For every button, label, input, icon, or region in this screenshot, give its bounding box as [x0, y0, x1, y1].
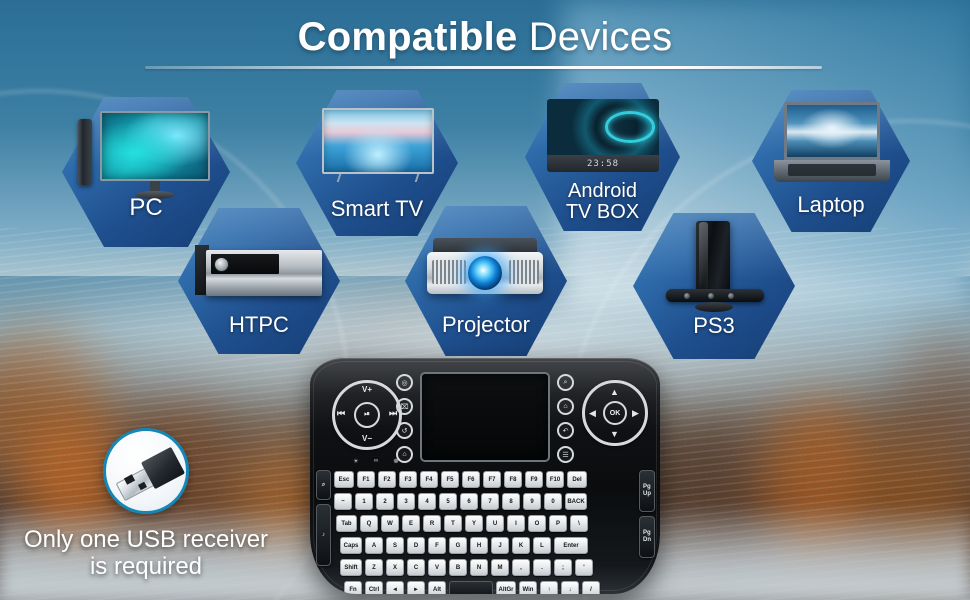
key-f10[interactable]: F10 — [546, 471, 564, 488]
left-round-icon-2: ⌧ — [400, 403, 408, 411]
key-g[interactable]: G — [449, 537, 467, 554]
key-5[interactable]: 5 — [439, 493, 457, 510]
key-f3[interactable]: F3 — [399, 471, 417, 488]
key--[interactable]: ' — [575, 559, 593, 576]
play-pause-icon: ⏯ — [364, 411, 370, 419]
key-d[interactable]: D — [407, 537, 425, 554]
backlight-icon-3: ❁ — [390, 458, 402, 465]
android-box-display: 23:58 — [547, 155, 659, 172]
ok-button[interactable]: OK — [603, 401, 627, 425]
key-1[interactable]: 1 — [355, 493, 373, 510]
device-label-ps3: PS3 — [633, 314, 795, 337]
search-button[interactable]: ⌕ — [557, 374, 574, 391]
key-h[interactable]: H — [470, 537, 488, 554]
side-key-left-top-icon: ⌕ — [322, 482, 325, 489]
backlight-icon-1: ☀ — [350, 458, 362, 465]
title-underline — [145, 66, 822, 69]
ps3-sensor-bar — [666, 289, 764, 302]
key--[interactable]: . — [533, 559, 551, 576]
ok-label: OK — [610, 410, 621, 417]
tv-foot — [337, 174, 342, 182]
ps3-stand — [695, 302, 733, 312]
projector-vent — [509, 260, 539, 284]
key-f8[interactable]: F8 — [504, 471, 522, 488]
usb-receiver-badge — [103, 428, 189, 514]
key-del[interactable]: Del — [567, 471, 587, 488]
key-w[interactable]: W — [381, 515, 399, 532]
htpc-dial — [214, 257, 229, 272]
key-q[interactable]: Q — [360, 515, 378, 532]
key-row-shift[interactable]: ShiftZXCVBNM,.;' — [340, 559, 593, 576]
key--[interactable]: ; — [554, 559, 572, 576]
laptop-keys — [788, 164, 876, 176]
key-altgr[interactable]: AltGr — [496, 581, 516, 594]
key-p[interactable]: P — [549, 515, 567, 532]
backlight-icon-2: ∞ — [370, 458, 382, 464]
key-f9[interactable]: F9 — [525, 471, 543, 488]
key-k[interactable]: K — [512, 537, 530, 554]
side-key-page-down[interactable]: Pg Dn — [639, 516, 655, 558]
key-x[interactable]: X — [386, 559, 404, 576]
key-f6[interactable]: F6 — [462, 471, 480, 488]
menu-icon: ☰ — [562, 451, 568, 459]
key-9[interactable]: 9 — [523, 493, 541, 510]
dpad-down-icon[interactable]: ▼ — [610, 430, 619, 439]
android-box-icon — [547, 99, 659, 155]
side-key-left-bottom-icon: ♪ — [322, 532, 325, 538]
key-back[interactable]: BACK — [565, 493, 587, 510]
key-shift[interactable]: Shift — [340, 559, 362, 576]
dpad-up-icon[interactable]: ▲ — [610, 388, 619, 397]
touchpad[interactable] — [420, 372, 550, 462]
device-label-htpc: HTPC — [178, 313, 340, 336]
ps3-console-icon — [696, 221, 730, 293]
key--[interactable]: ~ — [334, 493, 352, 510]
key-7[interactable]: 7 — [481, 493, 499, 510]
key--[interactable]: ◄ — [386, 581, 404, 594]
key-4[interactable]: 4 — [418, 493, 436, 510]
key-y[interactable]: Y — [465, 515, 483, 532]
prev-track-icon[interactable]: ⏮ — [332, 408, 350, 419]
key-i[interactable]: I — [507, 515, 525, 532]
smart-tv-icon — [322, 108, 434, 174]
usb-note-text: Only one USB receiver is required — [6, 527, 286, 581]
page-up-label: Pg Up — [643, 484, 651, 497]
key-c[interactable]: C — [407, 559, 425, 576]
left-round-button-1[interactable]: ◎ — [396, 374, 413, 391]
device-label-projector: Projector — [405, 313, 567, 336]
android-box-glow-ring — [605, 111, 654, 142]
key-alt[interactable]: Alt — [428, 581, 446, 594]
ps3-sensor-lens — [728, 293, 734, 299]
key--[interactable]: ↑ — [540, 581, 558, 594]
projector-lens — [468, 256, 502, 290]
left-round-button-3[interactable]: ↺ — [396, 422, 413, 439]
key-fn[interactable]: Fn — [344, 581, 362, 594]
key-n[interactable]: N — [470, 559, 488, 576]
home-button[interactable]: ⌂ — [557, 398, 574, 415]
key-t[interactable]: T — [444, 515, 462, 532]
key-row-function[interactable]: EscF1F2F3F4F5F6F7F8F9F10Del — [334, 471, 587, 488]
key-tab[interactable]: Tab — [336, 515, 357, 532]
key--[interactable]: ► — [407, 581, 425, 594]
back-icon: ↶ — [563, 427, 569, 435]
ps3-sensor-lens — [684, 293, 690, 299]
play-pause-button[interactable]: ⏯ — [354, 402, 380, 428]
key-6[interactable]: 6 — [460, 493, 478, 510]
side-key-left-top[interactable]: ⌕ — [316, 470, 331, 500]
key-f1[interactable]: F1 — [357, 471, 375, 488]
key--[interactable]: ↓ — [561, 581, 579, 594]
key-row-home[interactable]: CapsASDFGHJKLEnter — [340, 537, 588, 554]
key-caps[interactable]: Caps — [340, 537, 362, 554]
volume-down-label[interactable]: V− — [332, 434, 402, 443]
search-icon: ⌕ — [564, 379, 568, 387]
projector-vent — [432, 260, 466, 284]
page-title-light: Devices — [517, 15, 672, 59]
key-s[interactable]: S — [386, 537, 404, 554]
page-title: Compatible Devices — [0, 14, 970, 60]
ps3-gloss — [699, 222, 708, 291]
page-title-bold: Compatible — [298, 15, 518, 59]
key-row-qwerty[interactable]: TabQWERTYUIOP\ — [336, 515, 588, 532]
key-8[interactable]: 8 — [502, 493, 520, 510]
page-down-label: Pg Dn — [643, 530, 651, 543]
key-u[interactable]: U — [486, 515, 504, 532]
left-round-icon-1: ◎ — [401, 379, 407, 387]
ps3-sensor-lens — [708, 293, 714, 299]
back-button[interactable]: ↶ — [557, 422, 574, 439]
laptop-screen-icon — [784, 102, 880, 160]
key-r[interactable]: R — [423, 515, 441, 532]
key-b[interactable]: B — [449, 559, 467, 576]
key--[interactable]: / — [582, 581, 600, 594]
side-key-page-up[interactable]: Pg Up — [639, 470, 655, 512]
key-row-number[interactable]: ~1234567890BACK — [334, 493, 587, 510]
key-a[interactable]: A — [365, 537, 383, 554]
volume-up-label[interactable]: V+ — [332, 385, 402, 394]
key-v[interactable]: V — [428, 559, 446, 576]
key-j[interactable]: J — [491, 537, 509, 554]
left-round-button-2[interactable]: ⌧ — [396, 398, 413, 415]
mini-wireless-keyboard[interactable]: V+ V− ⏮ ⏭ ⏯ ◎ ⌧ ↺ ⌂ ⌕ ⌂ ↶ ☰ — [310, 358, 660, 594]
home-icon: ⌂ — [563, 403, 567, 410]
key-z[interactable]: Z — [365, 559, 383, 576]
key-f2[interactable]: F2 — [378, 471, 396, 488]
left-round-icon-3: ↺ — [402, 427, 408, 435]
key-row-bottom[interactable]: FnCtrl◄►AltAltGrWin↑↓/ — [344, 581, 600, 594]
poster-canvas: Compatible Devices PC Smart TV 23:58 And… — [0, 0, 970, 600]
key-space[interactable] — [449, 581, 493, 594]
key-f5[interactable]: F5 — [441, 471, 459, 488]
key-f[interactable]: F — [428, 537, 446, 554]
key-m[interactable]: M — [491, 559, 509, 576]
side-key-left-bottom[interactable]: ♪ — [316, 504, 331, 566]
key-e[interactable]: E — [402, 515, 420, 532]
tv-foot — [415, 174, 420, 182]
android-box-time: 23:58 — [587, 159, 619, 169]
key-0[interactable]: 0 — [544, 493, 562, 510]
key-win[interactable]: Win — [519, 581, 537, 594]
pc-tower-icon — [78, 119, 92, 185]
key-3[interactable]: 3 — [397, 493, 415, 510]
key--[interactable]: , — [512, 559, 530, 576]
pc-monitor-icon — [100, 111, 210, 181]
key-ctrl[interactable]: Ctrl — [365, 581, 383, 594]
dpad-right-icon[interactable]: ▶ — [632, 409, 639, 418]
key-o[interactable]: O — [528, 515, 546, 532]
key-2[interactable]: 2 — [376, 493, 394, 510]
key-f4[interactable]: F4 — [420, 471, 438, 488]
key-enter[interactable]: Enter — [554, 537, 588, 554]
key-l[interactable]: L — [533, 537, 551, 554]
key-f7[interactable]: F7 — [483, 471, 501, 488]
left-round-icon-4: ⌂ — [402, 451, 406, 458]
key--[interactable]: \ — [570, 515, 588, 532]
menu-button[interactable]: ☰ — [557, 446, 574, 463]
dpad-left-icon[interactable]: ◀ — [589, 409, 596, 418]
key-esc[interactable]: Esc — [334, 471, 354, 488]
